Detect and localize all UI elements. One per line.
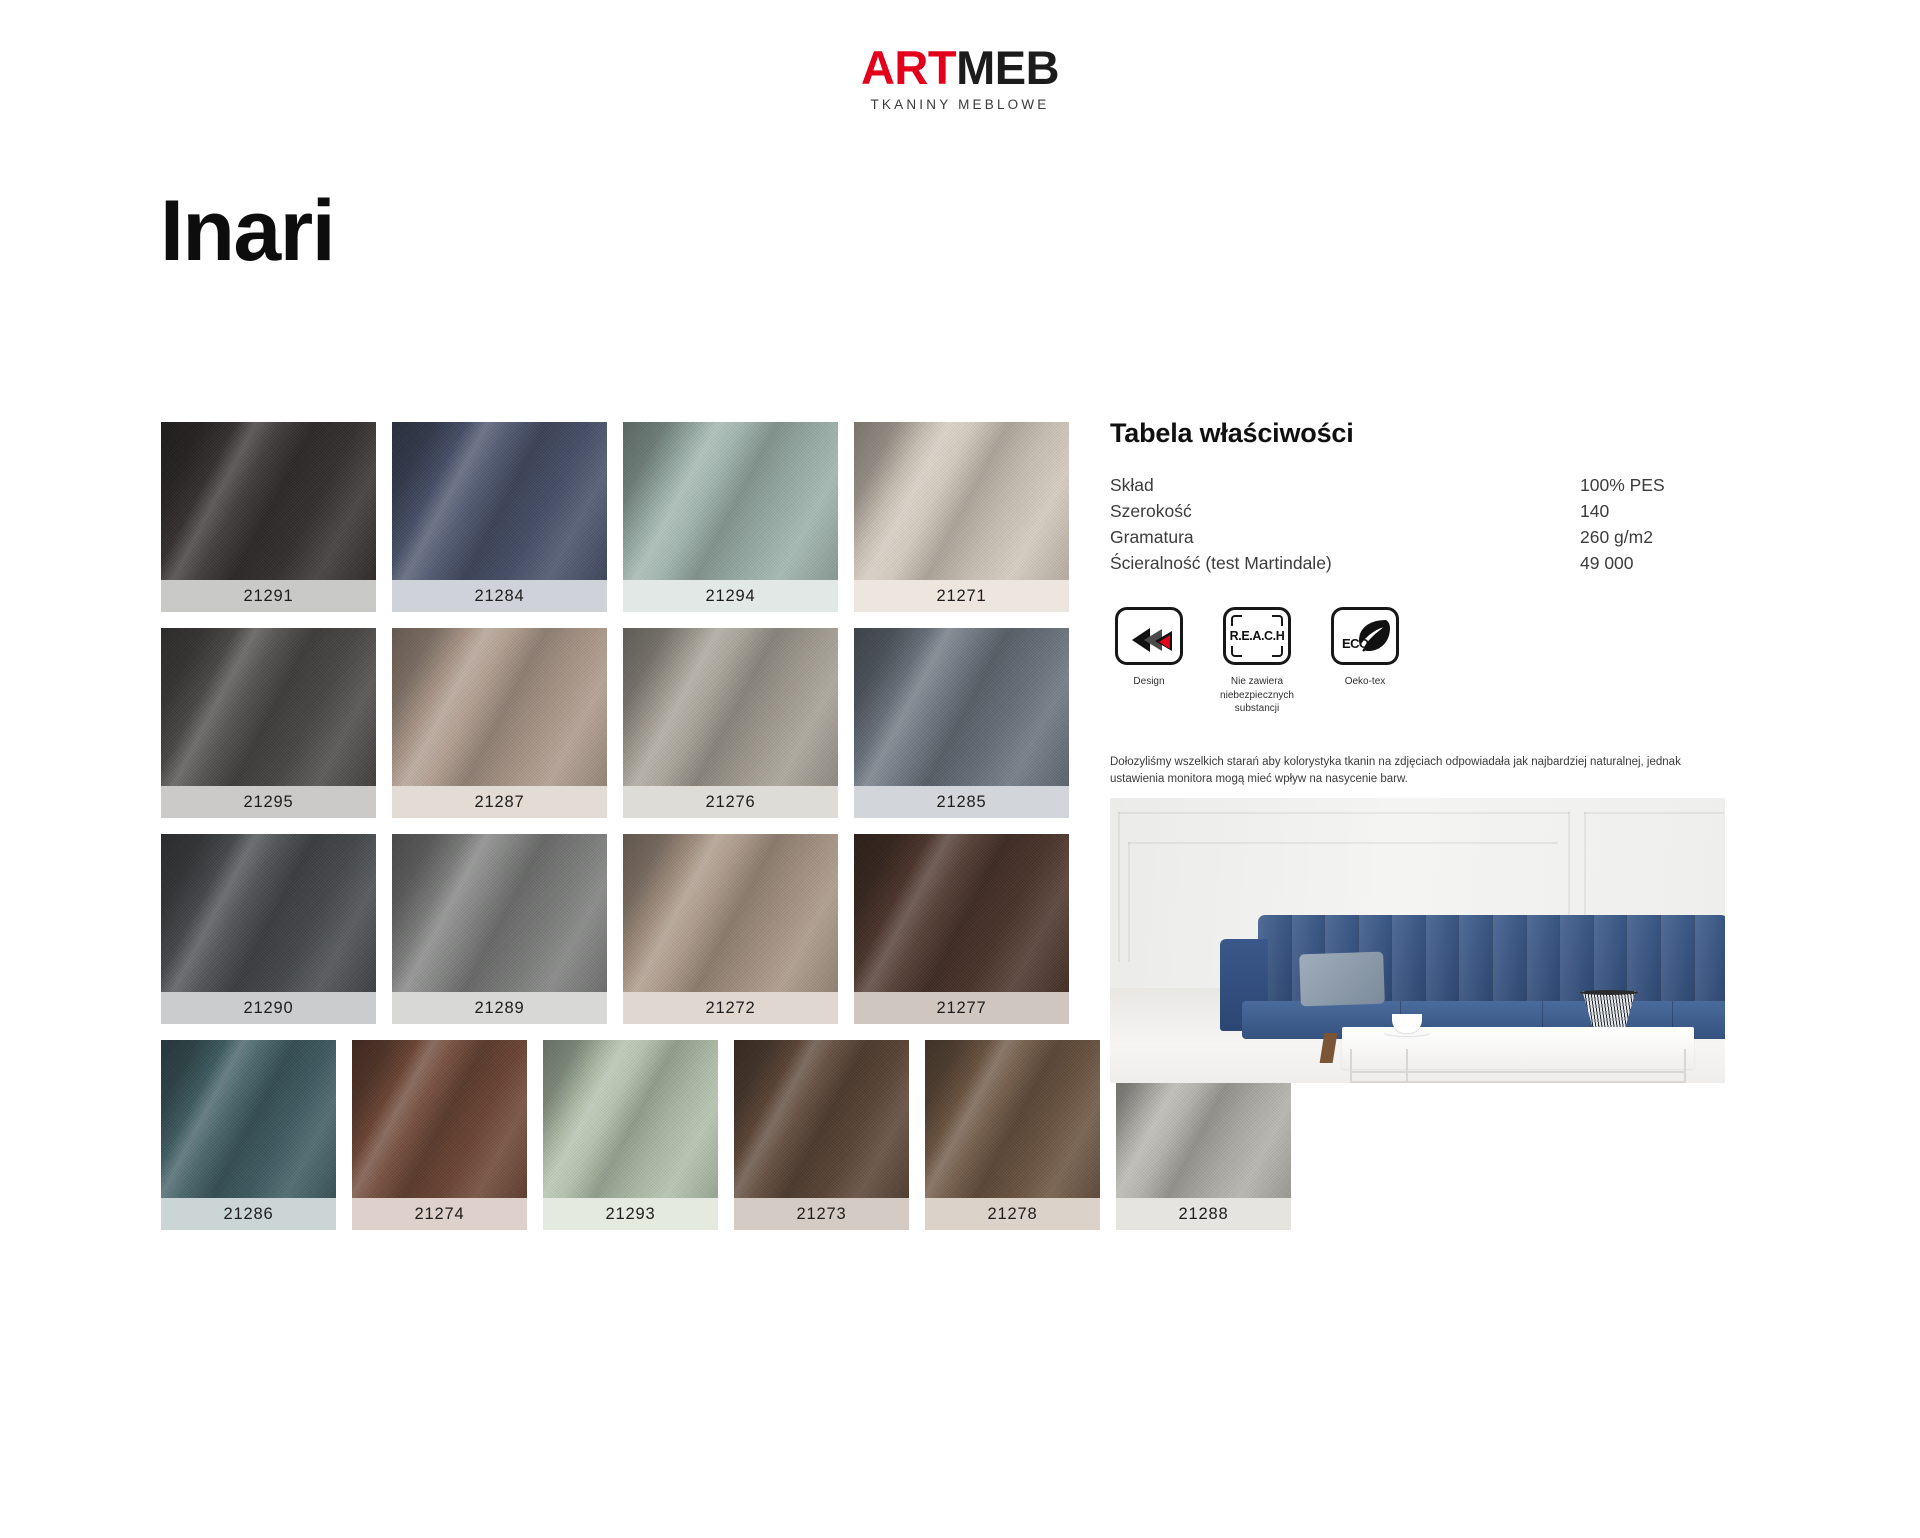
logo-wordmark: ARTMEB: [861, 44, 1059, 91]
fabric-image: [161, 1040, 336, 1198]
design-badge-caption: Design: [1110, 675, 1188, 689]
fabric-swatch[interactable]: 21285: [854, 628, 1069, 818]
swatch-code: 21295: [244, 793, 294, 812]
fabric-image: [734, 1040, 909, 1198]
fabric-image: [161, 834, 376, 992]
swatch-code: 21291: [244, 587, 294, 606]
fabric-fold-shading: [392, 628, 607, 786]
property-row: Ścieralność (test Martindale)49 000: [1110, 553, 1730, 579]
fabric-image: [854, 628, 1069, 786]
property-label: Skład: [1110, 475, 1570, 501]
swatch-label-band: 21277: [854, 992, 1069, 1024]
fabric-image: [352, 1040, 527, 1198]
badge-oekotex: ECO Oeko-tex: [1326, 607, 1404, 716]
swatch-code: 21285: [937, 793, 987, 812]
fabric-image: [854, 834, 1069, 992]
property-label: Szerokość: [1110, 501, 1570, 527]
swatch-label-band: 21272: [623, 992, 838, 1024]
swatch-code: 21287: [475, 793, 525, 812]
fabric-image: [623, 628, 838, 786]
property-value: 260 g/m2: [1570, 527, 1730, 553]
fabric-swatch[interactable]: 21273: [734, 1040, 909, 1230]
room-photo: [1110, 798, 1725, 1083]
page-title: Inari: [160, 188, 334, 274]
property-label: Ścieralność (test Martindale): [1110, 553, 1570, 579]
logo-tagline: TKANINY MEBLOWE: [0, 97, 1920, 112]
swatch-code: 21272: [706, 999, 756, 1018]
swatch-code: 21286: [224, 1205, 274, 1224]
fabric-swatch[interactable]: 21295: [161, 628, 376, 818]
property-row: Skład100% PES: [1110, 475, 1730, 501]
properties-table: Skład100% PESSzerokość140Gramatura260 g/…: [1110, 475, 1730, 579]
swatch-label-band: 21285: [854, 786, 1069, 818]
fabric-image: [392, 834, 607, 992]
fabric-collection-page: ARTMEB TKANINY MEBLOWE Inari 21291212842…: [0, 0, 1920, 1538]
fabric-image: [392, 628, 607, 786]
fabric-fold-shading: [854, 422, 1069, 580]
logo-meb-text: MEB: [956, 41, 1059, 94]
swatch-label-band: 21287: [392, 786, 607, 818]
swatch-code: 21294: [706, 587, 756, 606]
certification-badges: Design R.E.A.C.H Nie zawiera niebezpiecz…: [1110, 607, 1730, 716]
wall-panel-line-5: [1584, 812, 1724, 814]
fabric-image: [854, 422, 1069, 580]
wall-panel-line-6: [1128, 842, 1558, 844]
swatch-label-band: 21274: [352, 1198, 527, 1230]
swatch-code: 21271: [937, 587, 987, 606]
fabric-swatch[interactable]: 21277: [854, 834, 1069, 1024]
fabric-swatch[interactable]: 21276: [623, 628, 838, 818]
fabric-swatch[interactable]: 21289: [392, 834, 607, 1024]
property-value: 140: [1570, 501, 1730, 527]
fabric-fold-shading: [352, 1040, 527, 1198]
fabric-fold-shading: [161, 834, 376, 992]
swatch-label-band: 21273: [734, 1198, 909, 1230]
fabric-fold-shading: [623, 834, 838, 992]
fabric-swatch[interactable]: 21278: [925, 1040, 1100, 1230]
swatch-label-band: 21278: [925, 1198, 1100, 1230]
swatch-label-band: 21291: [161, 580, 376, 612]
fabric-swatch[interactable]: 21271: [854, 422, 1069, 612]
swatch-code: 21274: [415, 1205, 465, 1224]
eco-label: ECO: [1342, 636, 1369, 651]
oekotex-badge-caption: Oeko-tex: [1326, 675, 1404, 689]
reach-badge-box: R.E.A.C.H: [1223, 607, 1291, 665]
fabric-fold-shading: [623, 628, 838, 786]
swatch-code: 21277: [937, 999, 987, 1018]
swatch-code: 21273: [797, 1205, 847, 1224]
badge-reach: R.E.A.C.H Nie zawiera niebezpiecznych su…: [1218, 607, 1296, 716]
swatch-label-band: 21289: [392, 992, 607, 1024]
fabric-swatch[interactable]: 21284: [392, 422, 607, 612]
fabric-fold-shading: [161, 628, 376, 786]
swatch-code: 21278: [988, 1205, 1038, 1224]
fabric-swatch[interactable]: 21294: [623, 422, 838, 612]
logo-art-text: ART: [861, 41, 956, 94]
swatch-code: 21288: [1179, 1205, 1229, 1224]
reach-label: R.E.A.C.H: [1226, 610, 1288, 662]
fabric-image: [161, 628, 376, 786]
swatch-label-band: 21271: [854, 580, 1069, 612]
fabric-fold-shading: [543, 1040, 718, 1198]
throw-pillow: [1299, 952, 1385, 1007]
fabric-swatch[interactable]: 21291: [161, 422, 376, 612]
property-row: Szerokość140: [1110, 501, 1730, 527]
wall-panel-line-1: [1118, 812, 1570, 814]
swatch-code: 21284: [475, 587, 525, 606]
swatch-label-band: 21294: [623, 580, 838, 612]
badge-design: Design: [1110, 607, 1188, 716]
fabric-image: [392, 422, 607, 580]
disclaimer-paragraph-1: Dołozyliśmy wszelkich starań aby kolorys…: [1110, 754, 1730, 790]
design-arrows-icon: [1130, 624, 1176, 656]
swatch-code: 21289: [475, 999, 525, 1018]
fabric-swatch[interactable]: 21274: [352, 1040, 527, 1230]
swatch-label-band: 21288: [1116, 1198, 1291, 1230]
coffee-table-legs: [1350, 1049, 1686, 1083]
fabric-swatch[interactable]: 21272: [623, 834, 838, 1024]
property-label: Gramatura: [1110, 527, 1570, 553]
property-value: 49 000: [1570, 553, 1730, 579]
fabric-swatch[interactable]: 21290: [161, 834, 376, 1024]
fabric-fold-shading: [854, 834, 1069, 992]
fabric-image: [925, 1040, 1100, 1198]
property-row: Gramatura260 g/m2: [1110, 527, 1730, 553]
fabric-fold-shading: [161, 1040, 336, 1198]
fabric-swatch[interactable]: 21286: [161, 1040, 336, 1230]
swatch-code: 21290: [244, 999, 294, 1018]
fabric-swatch[interactable]: 21293: [543, 1040, 718, 1230]
oekotex-badge-box: ECO: [1331, 607, 1399, 665]
fabric-fold-shading: [392, 422, 607, 580]
fabric-image: [623, 834, 838, 992]
properties-panel: Tabela właściwości Skład100% PESSzerokoś…: [1110, 418, 1730, 827]
property-value: 100% PES: [1570, 475, 1730, 501]
swatch-code: 21276: [706, 793, 756, 812]
swatch-label-band: 21276: [623, 786, 838, 818]
swatch-code: 21293: [606, 1205, 656, 1224]
fabric-fold-shading: [161, 422, 376, 580]
fabric-image: [543, 1040, 718, 1198]
reach-badge-caption: Nie zawiera niebezpiecznych substancji: [1218, 675, 1296, 716]
swatch-label-band: 21286: [161, 1198, 336, 1230]
brand-logo: ARTMEB TKANINY MEBLOWE: [0, 44, 1920, 112]
swatch-label-band: 21290: [161, 992, 376, 1024]
swatch-label-band: 21293: [543, 1198, 718, 1230]
fabric-fold-shading: [854, 628, 1069, 786]
fabric-fold-shading: [925, 1040, 1100, 1198]
fabric-image: [161, 422, 376, 580]
swatch-label-band: 21284: [392, 580, 607, 612]
fabric-image: [623, 422, 838, 580]
swatch-label-band: 21295: [161, 786, 376, 818]
design-badge-box: [1115, 607, 1183, 665]
fabric-fold-shading: [392, 834, 607, 992]
properties-heading: Tabela właściwości: [1110, 418, 1730, 449]
wall-panel-line-2: [1118, 812, 1120, 962]
wire-basket-rim: [1580, 990, 1638, 995]
fabric-fold-shading: [734, 1040, 909, 1198]
fabric-fold-shading: [623, 422, 838, 580]
fabric-swatch[interactable]: 21287: [392, 628, 607, 818]
wall-panel-line-7: [1128, 842, 1130, 962]
